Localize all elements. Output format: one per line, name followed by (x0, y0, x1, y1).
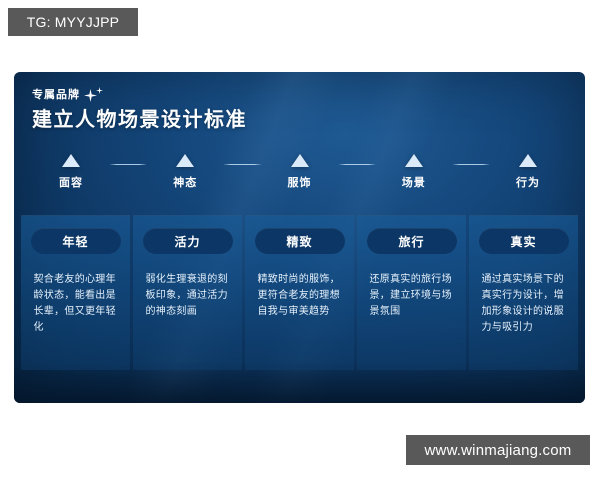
step-label: 行为 (516, 174, 540, 190)
triangle-up-icon (291, 154, 309, 167)
feature-card: 真实 通过真实场景下的真实行为设计，增加形象设计的说服力与吸引力 (469, 215, 578, 370)
card-badge-label: 精致 (286, 233, 312, 250)
card-body-text: 通过真实场景下的真实行为设计，增加形象设计的说服力与吸引力 (482, 272, 566, 336)
card-badge-label: 活力 (174, 233, 200, 250)
triangle-up-icon (519, 154, 537, 167)
step-item-3: 场景 (375, 154, 453, 190)
step-item-2: 服饰 (261, 154, 339, 190)
triangle-up-icon (405, 154, 423, 167)
card-badge: 精致 (255, 228, 345, 254)
step-label: 神态 (173, 174, 197, 190)
page-title: 建立人物场景设计标准 (32, 107, 247, 131)
feature-card: 精致 精致时尚的服饰，更符合老友的理想自我与审美趋势 (245, 215, 354, 370)
feature-card: 活力 弱化生理衰退的刻板印象，通过活力的神态刻画 (133, 215, 242, 370)
card-body-text: 精致时尚的服饰，更符合老友的理想自我与审美趋势 (258, 272, 342, 320)
eyebrow-label: 专属品牌 (32, 88, 80, 101)
step-label: 服饰 (288, 174, 312, 190)
step-item-1: 神态 (146, 154, 224, 190)
card-badge: 活力 (143, 228, 233, 254)
triangle-up-icon (62, 154, 80, 167)
card-badge: 旅行 (367, 228, 457, 254)
step-item-0: 面容 (32, 154, 110, 190)
step-label: 面容 (59, 174, 83, 190)
triangle-up-icon (176, 154, 194, 167)
card-badge: 真实 (479, 228, 569, 254)
card-body-text: 弱化生理衰退的刻板印象，通过活力的神态刻画 (146, 272, 230, 320)
step-connector (453, 164, 489, 165)
card-badge-label: 真实 (510, 233, 536, 250)
card-body-text: 还原真实的旅行场景，建立环境与场景氛围 (370, 272, 454, 320)
step-connector (339, 164, 375, 165)
step-connector (224, 164, 260, 165)
step-label: 场景 (402, 174, 426, 190)
step-item-4: 行为 (489, 154, 567, 190)
sparkle-icon (83, 88, 105, 102)
panel-header: 专属品牌 建立人物场景设计标准 (32, 88, 247, 131)
card-body-text: 契合老友的心理年龄状态，能看出是长辈，但又更年轻化 (34, 272, 118, 336)
card-badge: 年轻 (31, 228, 121, 254)
card-badge-label: 旅行 (398, 233, 424, 250)
watermark-top-left: TG: MYYJJPP (8, 8, 138, 36)
feature-card: 年轻 契合老友的心理年龄状态，能看出是长辈，但又更年轻化 (21, 215, 130, 370)
feature-card: 旅行 还原真实的旅行场景，建立环境与场景氛围 (357, 215, 466, 370)
watermark-bottom-right: www.winmajiang.com (406, 435, 590, 465)
card-row: 年轻 契合老友的心理年龄状态，能看出是长辈，但又更年轻化 活力 弱化生理衰退的刻… (21, 215, 578, 370)
step-tracker: 面容 神态 服饰 场景 行为 (32, 154, 567, 196)
eyebrow-row: 专属品牌 (32, 88, 247, 102)
slide-panel: 专属品牌 建立人物场景设计标准 面容 神态 服饰 (14, 72, 585, 403)
card-badge-label: 年轻 (62, 233, 88, 250)
step-connector (110, 164, 146, 165)
